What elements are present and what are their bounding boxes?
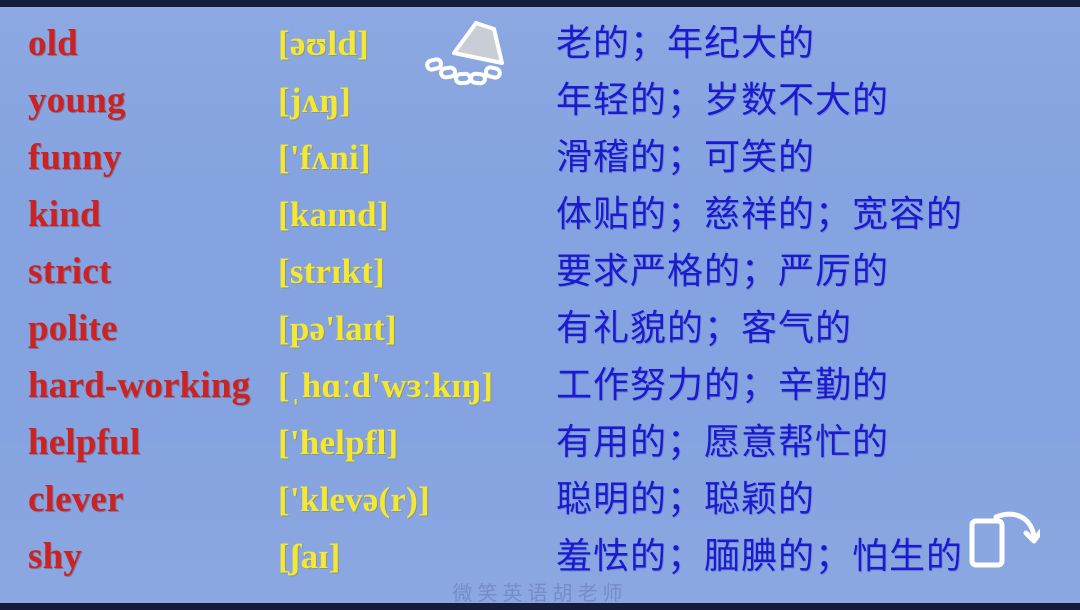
chinese-translation: 羞怯的；腼腆的；怕生的 xyxy=(556,528,963,585)
list-item: hard-working [ˌhɑːd'wɜːkɪŋ] 工作努力的；辛勤的 xyxy=(0,357,1080,414)
phonetic-transcription: [ˌhɑːd'wɜːkɪŋ] xyxy=(278,357,493,414)
chinese-translation: 年轻的；岁数不大的 xyxy=(556,72,889,129)
english-word: helpful xyxy=(28,414,140,471)
english-word: funny xyxy=(28,129,122,186)
english-word: clever xyxy=(28,471,124,528)
phonetic-transcription: [strɪkt] xyxy=(278,243,385,300)
phonetic-transcription: [jʌŋ] xyxy=(278,72,351,129)
phonetic-transcription: [kaɪnd] xyxy=(278,186,389,243)
english-word: shy xyxy=(28,528,82,585)
list-item: shy [ʃaɪ] 羞怯的；腼腆的；怕生的 xyxy=(0,528,1080,585)
english-word: kind xyxy=(28,186,101,243)
chinese-translation: 工作努力的；辛勤的 xyxy=(556,357,889,414)
phonetic-transcription: ['helpfl] xyxy=(278,414,398,471)
list-item: old [əʊld] 老的；年纪大的 xyxy=(0,15,1080,72)
english-word: old xyxy=(28,15,78,72)
list-item: kind [kaɪnd] 体贴的；慈祥的；宽容的 xyxy=(0,186,1080,243)
english-word: polite xyxy=(28,300,118,357)
list-item: clever ['klevə(r)] 聪明的；聪颖的 xyxy=(0,471,1080,528)
english-word: young xyxy=(28,72,126,129)
phonetic-transcription: [əʊld] xyxy=(278,15,369,72)
phonetic-transcription: ['klevə(r)] xyxy=(278,471,430,528)
chinese-translation: 体贴的；慈祥的；宽容的 xyxy=(556,186,963,243)
phonetic-transcription: ['fʌni] xyxy=(278,129,371,186)
chinese-translation: 有用的；愿意帮忙的 xyxy=(556,414,889,471)
list-item: young [jʌŋ] 年轻的；岁数不大的 xyxy=(0,72,1080,129)
list-item: funny ['fʌni] 滑稽的；可笑的 xyxy=(0,129,1080,186)
list-item: helpful ['helpfl] 有用的；愿意帮忙的 xyxy=(0,414,1080,471)
chinese-translation: 老的；年纪大的 xyxy=(556,15,815,72)
chinese-translation: 要求严格的；严厉的 xyxy=(556,243,889,300)
phonetic-transcription: [ʃaɪ] xyxy=(278,528,340,585)
vocabulary-list: old [əʊld] 老的；年纪大的 young [jʌŋ] 年轻的；岁数不大的… xyxy=(0,7,1080,585)
list-item: polite [pə'laɪt] 有礼貌的；客气的 xyxy=(0,300,1080,357)
phonetic-transcription: [pə'laɪt] xyxy=(278,300,397,357)
chinese-translation: 有礼貌的；客气的 xyxy=(556,300,852,357)
english-word: strict xyxy=(28,243,111,300)
list-item: strict [strɪkt] 要求严格的；严厉的 xyxy=(0,243,1080,300)
chinese-translation: 聪明的；聪颖的 xyxy=(556,471,815,528)
vocabulary-slide: old [əʊld] 老的；年纪大的 young [jʌŋ] 年轻的；岁数不大的… xyxy=(0,0,1080,610)
english-word: hard-working xyxy=(28,357,250,414)
chinese-translation: 滑稽的；可笑的 xyxy=(556,129,815,186)
